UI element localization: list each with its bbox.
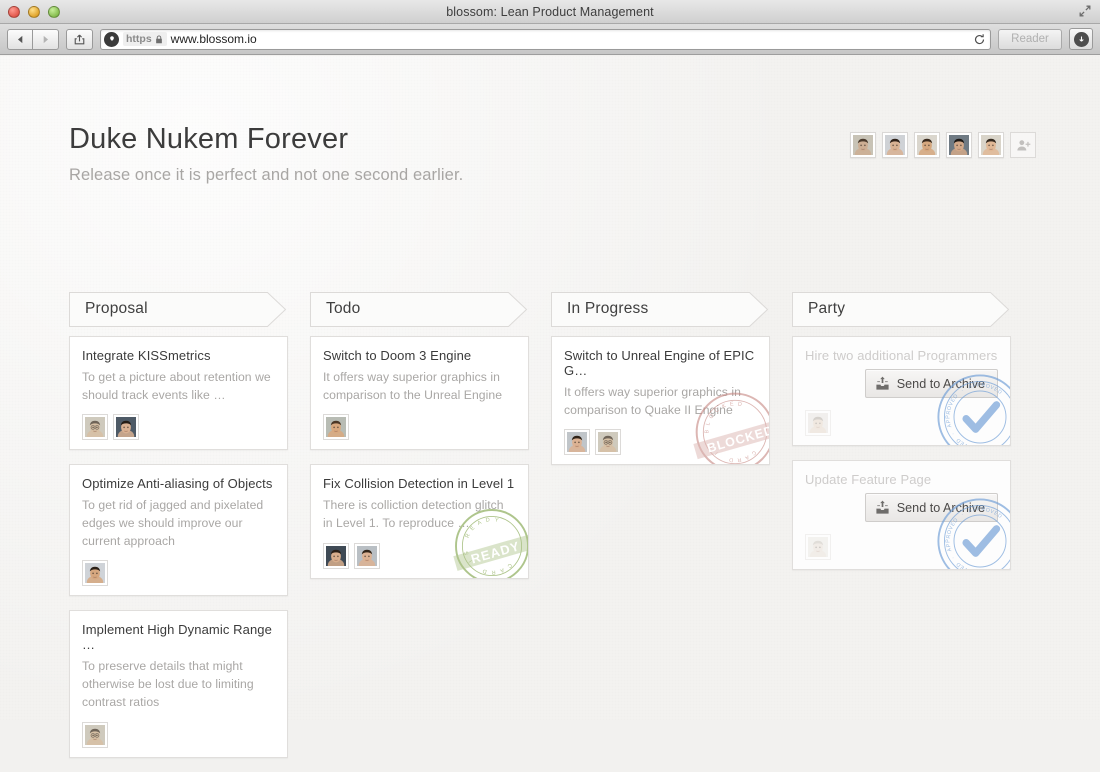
board-card[interactable]: Switch to Unreal Engine of EPIC G…It off…	[551, 336, 770, 465]
svg-text:P: P	[981, 445, 986, 446]
card-title: Optimize Anti-aliasing of Objects	[82, 476, 275, 491]
avatar	[85, 417, 105, 437]
column-header-proposal[interactable]: Proposal	[69, 292, 288, 327]
column-title: Party	[808, 300, 845, 318]
navigation-buttons	[7, 29, 59, 50]
card-assignees	[564, 429, 757, 455]
board-column-party: PartyHire two additional Programmers Sen…	[792, 292, 1011, 772]
member-avatar-1[interactable]	[850, 132, 876, 158]
card-description: There is colliction detection glitch in …	[323, 497, 516, 532]
fullscreen-icon[interactable]	[1078, 4, 1092, 18]
add-member-icon[interactable]	[1010, 132, 1036, 158]
lock-icon	[155, 35, 163, 44]
card-title: Switch to Unreal Engine of EPIC G…	[564, 348, 757, 378]
avatar	[949, 135, 969, 155]
card-assignee-avatar-2[interactable]	[595, 429, 621, 455]
scheme-indicator: https	[123, 32, 167, 46]
share-icon[interactable]	[66, 29, 93, 50]
board-card[interactable]: Update Feature Page Send to Archive APPR…	[792, 460, 1011, 570]
send-to-archive-label: Send to Archive	[897, 377, 985, 391]
avatar	[598, 432, 618, 452]
board-card[interactable]: Fix Collision Detection in Level 1There …	[310, 464, 529, 578]
board-card[interactable]: Hire two additional Programmers Send to …	[792, 336, 1011, 446]
svg-text:P: P	[977, 569, 981, 570]
card-title: Update Feature Page	[805, 472, 998, 487]
column-header-in-progress[interactable]: In Progress	[551, 292, 770, 327]
card-description: It offers way superior graphics in compa…	[564, 384, 757, 419]
archive-box-icon	[875, 500, 890, 515]
avatar	[116, 417, 136, 437]
column-header-todo[interactable]: Todo	[310, 292, 529, 327]
card-assignees	[805, 410, 998, 436]
blossom-site-icon	[104, 32, 119, 47]
column-title: Todo	[326, 300, 360, 318]
avatar	[85, 563, 105, 583]
card-title: Fix Collision Detection in Level 1	[323, 476, 516, 491]
card-description: It offers way superior graphics in compa…	[323, 369, 516, 404]
reader-button[interactable]: Reader	[998, 29, 1062, 50]
avatar	[326, 546, 346, 566]
member-avatar-5[interactable]	[978, 132, 1004, 158]
board-columns: ProposalIntegrate KISSmetricsTo get a pi…	[69, 292, 1100, 772]
member-avatar-4[interactable]	[946, 132, 972, 158]
card-assignees	[82, 560, 275, 586]
avatar	[981, 135, 1001, 155]
avatar	[357, 546, 377, 566]
card-assignee-avatar-1[interactable]	[805, 410, 831, 436]
svg-text:R: R	[737, 456, 742, 463]
member-avatar-2[interactable]	[882, 132, 908, 158]
board-card[interactable]: Integrate KISSmetricsTo get a picture ab…	[69, 336, 288, 450]
board-subtitle: Release once it is perfect and not one s…	[69, 166, 1040, 185]
column-title: Proposal	[85, 300, 148, 318]
address-bar[interactable]: https www.blossom.io	[100, 29, 991, 50]
url-text[interactable]: www.blossom.io	[171, 32, 257, 46]
card-assignee-avatar-1[interactable]	[82, 722, 108, 748]
downloads-icon	[1074, 32, 1089, 47]
back-arrow-icon[interactable]	[7, 29, 33, 50]
svg-text:P: P	[977, 445, 981, 446]
window-title: blossom: Lean Product Management	[0, 5, 1100, 19]
browser-window: blossom: Lean Product Management	[0, 0, 1100, 720]
svg-text:E: E	[959, 563, 966, 570]
card-assignee-avatar-1[interactable]	[564, 429, 590, 455]
avatar	[326, 417, 346, 437]
send-to-archive-button[interactable]: Send to Archive	[865, 369, 998, 398]
card-title: Implement High Dynamic Range …	[82, 622, 275, 652]
card-assignees	[323, 543, 516, 569]
card-assignee-avatar-1[interactable]	[82, 414, 108, 440]
card-assignee-avatar-1[interactable]	[323, 543, 349, 569]
avatar	[85, 725, 105, 745]
svg-text:V: V	[963, 441, 969, 446]
avatar	[808, 537, 828, 557]
board-column-proposal: ProposalIntegrate KISSmetricsTo get a pi…	[69, 292, 288, 772]
window-titlebar: blossom: Lean Product Management	[0, 0, 1100, 24]
card-archive-row: Send to Archive	[805, 369, 998, 398]
card-title: Integrate KISSmetrics	[82, 348, 275, 363]
page-content: Duke Nukem Forever Release once it is pe…	[0, 56, 1100, 720]
forward-arrow-icon[interactable]	[33, 29, 59, 50]
svg-text:D: D	[955, 561, 962, 568]
column-title: In Progress	[567, 300, 648, 318]
svg-text:V: V	[948, 401, 955, 407]
svg-text:E: E	[959, 439, 966, 446]
svg-text:P: P	[981, 569, 986, 570]
svg-text:V: V	[948, 525, 955, 531]
card-assignee-avatar-1[interactable]	[82, 560, 108, 586]
card-description: To preserve details that might otherwise…	[82, 658, 275, 711]
member-avatar-3[interactable]	[914, 132, 940, 158]
board-column-todo: TodoSwitch to Doom 3 EngineIt offers way…	[310, 292, 529, 772]
send-to-archive-label: Send to Archive	[897, 501, 985, 515]
send-to-archive-button[interactable]: Send to Archive	[865, 493, 998, 522]
archive-box-icon	[875, 376, 890, 391]
browser-toolbar: https www.blossom.io Reader	[0, 24, 1100, 55]
svg-text:R: R	[491, 568, 495, 574]
avatar	[808, 413, 828, 433]
card-assignees	[82, 722, 275, 748]
board-card[interactable]: Switch to Doom 3 EngineIt offers way sup…	[310, 336, 529, 450]
svg-text:R: R	[465, 533, 472, 539]
avatar	[917, 135, 937, 155]
board-card[interactable]: Optimize Anti-aliasing of ObjectsTo get …	[69, 464, 288, 596]
avatar	[853, 135, 873, 155]
reload-icon[interactable]	[971, 33, 987, 46]
svg-text:O: O	[967, 443, 973, 446]
avatar	[885, 135, 905, 155]
svg-text:D: D	[955, 437, 962, 444]
svg-text:A: A	[985, 568, 990, 570]
card-assignee-avatar-1[interactable]	[323, 414, 349, 440]
svg-text:R: R	[972, 445, 977, 446]
board-members	[850, 132, 1036, 158]
card-assignees	[323, 414, 516, 440]
card-assignees	[805, 534, 998, 560]
card-assignee-avatar-2[interactable]	[113, 414, 139, 440]
board-column-in-progress: In ProgressSwitch to Unreal Engine of EP…	[551, 292, 770, 772]
scheme-label: https	[126, 33, 152, 45]
svg-text:L: L	[705, 422, 712, 427]
card-archive-row: Send to Archive	[805, 493, 998, 522]
svg-text:D: D	[729, 457, 734, 463]
avatar	[567, 432, 587, 452]
column-header-party[interactable]: Party	[792, 292, 1011, 327]
svg-text:R: R	[972, 569, 977, 570]
card-title: Switch to Doom 3 Engine	[323, 348, 516, 363]
svg-text:V: V	[963, 565, 969, 570]
card-description: To get rid of jagged and pixelated edges…	[82, 497, 275, 550]
card-description: To get a picture about retention we shou…	[82, 369, 275, 404]
card-assignee-avatar-1[interactable]	[805, 534, 831, 560]
card-assignee-avatar-2[interactable]	[354, 543, 380, 569]
downloads-button[interactable]	[1069, 28, 1093, 50]
board-card[interactable]: Implement High Dynamic Range …To preserv…	[69, 610, 288, 757]
svg-text:O: O	[967, 567, 973, 570]
svg-text:A: A	[985, 444, 990, 446]
card-title: Hire two additional Programmers	[805, 348, 998, 363]
card-assignees	[82, 414, 275, 440]
